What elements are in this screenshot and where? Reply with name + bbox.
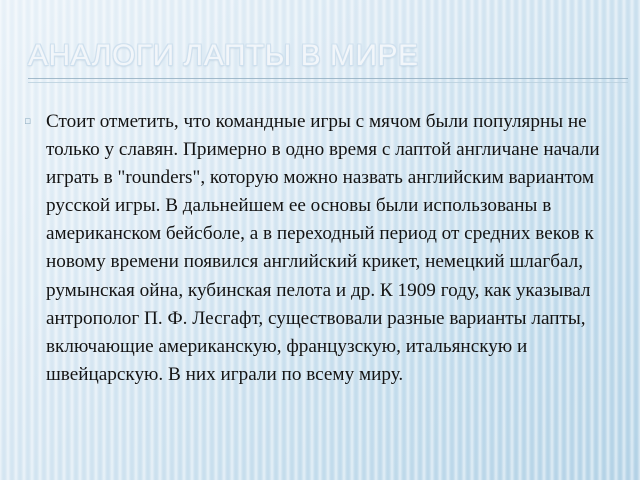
page-title: Аналоги лапты в мире: [28, 38, 628, 74]
slide-title-area: Аналоги лапты в мире: [28, 38, 628, 84]
list-item: ▫ Стоит отметить, что командные игры с м…: [24, 108, 616, 389]
title-divider: [28, 78, 628, 79]
title-divider-secondary: [28, 82, 628, 83]
bullet-paragraph: Стоит отметить, что командные игры с мяч…: [46, 108, 616, 389]
slide-body: ▫ Стоит отметить, что командные игры с м…: [24, 108, 616, 389]
slide-canvas: Аналоги лапты в мире ▫ Стоит отметить, ч…: [0, 0, 640, 480]
bullet-square-icon: ▫: [24, 108, 46, 126]
